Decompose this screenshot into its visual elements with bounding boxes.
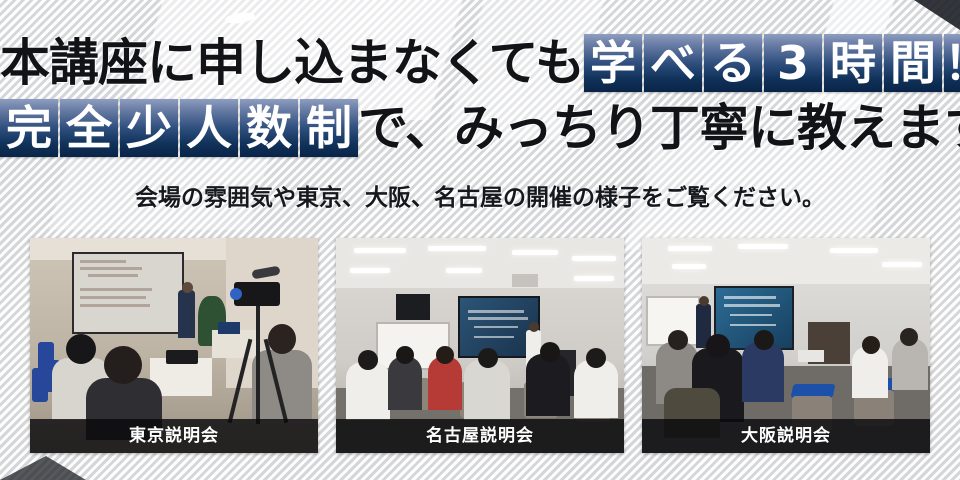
- headline-boxed-char: る: [704, 34, 762, 92]
- headline-line-1: 本講座に申し込まなくても 学べる3時間！: [0, 34, 960, 92]
- headline-boxed-group: 学べる3時間！: [584, 34, 960, 92]
- photo-caption: 東京説明会: [30, 419, 318, 453]
- headline-boxed-char: 人: [180, 99, 238, 157]
- headline-boxed-char: 全: [60, 99, 118, 157]
- headline-boxed-char: 間: [884, 34, 942, 92]
- subtitle: 会場の雰囲気や東京、大阪、名古屋の開催の様子をご覧ください。: [0, 178, 960, 212]
- headline-boxed-char: 時: [824, 34, 882, 92]
- photo-card-nagoya[interactable]: 名古屋説明会: [336, 238, 624, 453]
- promo-banner: 本講座に申し込まなくても 学べる3時間！ 完全少人数制 で、みっちり丁寧に教えま…: [0, 0, 960, 480]
- headline-boxed-char: 少: [120, 99, 178, 157]
- headline-plain-text: 本講座に申し込まなくても: [0, 34, 584, 92]
- photo-card-tokyo[interactable]: 東京説明会: [30, 238, 318, 453]
- headline-boxed-char: 3: [764, 34, 822, 92]
- photo-card-osaka[interactable]: 大阪説明会: [642, 238, 930, 453]
- headline-plain-text: で、みっちり丁寧に教えます。: [358, 99, 960, 157]
- corner-accent-bottom-left: [0, 456, 86, 480]
- headline-boxed-char: 制: [300, 99, 358, 157]
- photo-caption: 大阪説明会: [642, 419, 930, 453]
- photo-strip: 東京説明会: [30, 238, 930, 453]
- headline-line-2: 完全少人数制 で、みっちり丁寧に教えます。: [0, 99, 960, 157]
- photo-caption: 名古屋説明会: [336, 419, 624, 453]
- headline-boxed-char: 学: [584, 34, 642, 92]
- headline-boxed-group: 完全少人数制: [0, 99, 358, 157]
- headline-boxed-char: 完: [0, 99, 58, 157]
- corner-accent-top-right: [914, 0, 960, 30]
- headline-boxed-char: 数: [240, 99, 298, 157]
- background-highlight: [224, 11, 255, 25]
- headline-boxed-char: べ: [644, 34, 702, 92]
- headline-boxed-char: ！: [944, 34, 960, 92]
